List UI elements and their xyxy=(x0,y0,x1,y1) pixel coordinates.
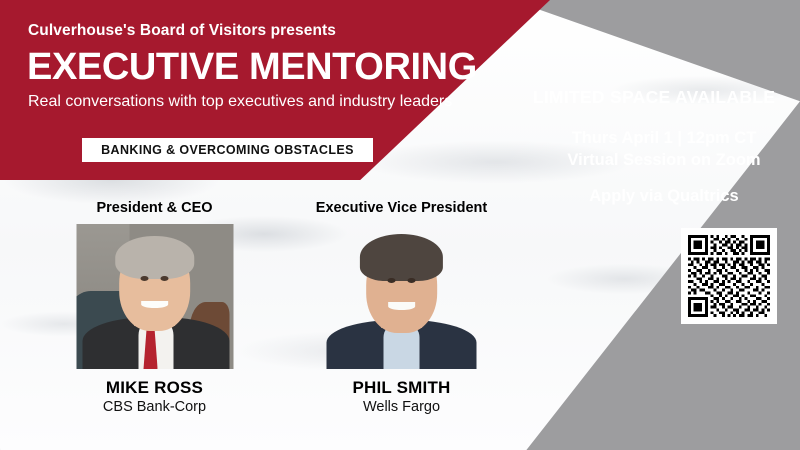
speaker-role: Executive Vice President xyxy=(316,200,487,216)
apply-instruction-text: Apply via Qualtrics xyxy=(528,187,800,206)
qr-code-icon xyxy=(688,235,770,317)
speaker-photo xyxy=(76,224,233,369)
speaker-organization: CBS Bank-Corp xyxy=(103,399,206,415)
qr-code[interactable] xyxy=(681,228,777,324)
speaker-name: PHIL SMITH xyxy=(352,378,450,398)
kicker-text: Culverhouse's Board of Visitors presents xyxy=(28,22,336,40)
speaker-role: President & CEO xyxy=(96,200,212,216)
session-datetime: Thurs April 1 | 12pm CT Virtual Session … xyxy=(528,128,800,172)
page-title: EXECUTIVE MENTORING xyxy=(27,48,477,86)
portrait-phil-smith-image xyxy=(323,224,480,369)
portrait-mike-ross-image xyxy=(76,224,233,369)
topic-tag-box: BANKING & OVERCOMING OBSTACLES xyxy=(80,136,375,164)
speaker-name: MIKE ROSS xyxy=(106,378,203,398)
speaker-card-phil-smith: Executive Vice President PHIL SMITH Well… xyxy=(323,200,480,425)
topic-tag-label: BANKING & OVERCOMING OBSTACLES xyxy=(101,143,354,157)
speaker-photo xyxy=(323,224,480,369)
speaker-organization: Wells Fargo xyxy=(363,399,440,415)
flyer-canvas: Culverhouse's Board of Visitors presents… xyxy=(0,0,800,450)
speaker-card-mike-ross: President & CEO MIKE ROSS CBS Bank-Corp xyxy=(76,200,233,425)
subheadline-text: Real conversations with top executives a… xyxy=(28,93,452,111)
limited-space-text: LIMITED SPACE AVAILABLE xyxy=(508,87,800,108)
session-date-line: Thurs April 1 | 12pm CT xyxy=(528,128,800,150)
session-platform-line: Virtual Session on Zoom xyxy=(528,150,800,172)
